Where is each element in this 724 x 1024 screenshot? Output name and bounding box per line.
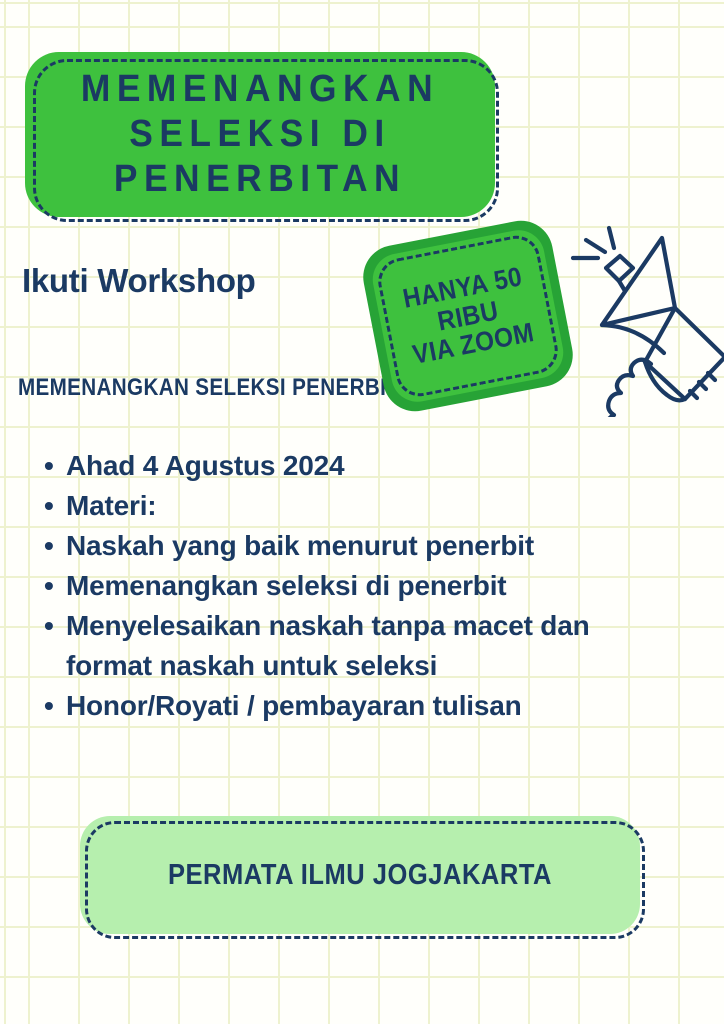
megaphone-mouthpiece <box>606 256 633 281</box>
workshop-name: MEMENANGKAN SELEKSI PENERBITAN <box>18 374 428 402</box>
sound-ray-3 <box>609 228 614 248</box>
title-line-3: PENERBITAN <box>114 157 406 202</box>
megaphone-grip-line-1 <box>708 373 715 380</box>
megaphone-cone <box>602 238 675 325</box>
title-banner: MEMENANGKAN SELEKSI DI PENERBITAN <box>25 52 495 217</box>
subheading: Ikuti Workshop <box>22 262 256 300</box>
title-line-1: MEMENANGKAN <box>81 67 439 112</box>
bullet-icon: • <box>44 606 66 646</box>
list-item: • Menyelesaikan naskah tanpa macet dan f… <box>44 606 644 686</box>
list-item-label: Honor/Royati / pembayaran tulisan <box>66 686 644 726</box>
list-item: • Naskah yang baik menurut penerbit <box>44 526 644 566</box>
list-item: • Ahad 4 Agustus 2024 <box>44 446 644 486</box>
list-item-label: Memenangkan seleksi di penerbit <box>66 566 644 606</box>
list-item: • Materi: <box>44 486 644 526</box>
title-line-2: SELEKSI DI <box>129 112 390 157</box>
megaphone-grip-line-3 <box>690 391 697 398</box>
title-banner-text: MEMENANGKAN SELEKSI DI PENERBITAN <box>41 52 478 217</box>
price-badge-text: HANYA 50 RIBU VIA ZOOM <box>367 217 569 415</box>
bullet-icon: • <box>44 566 66 606</box>
list-item-label: Menyelesaikan naskah tanpa macet dan for… <box>66 606 644 686</box>
poster-canvas: MEMENANGKAN SELEKSI DI PENERBITAN Ikuti … <box>0 0 724 1024</box>
detail-list: • Ahad 4 Agustus 2024 • Materi: • Naskah… <box>44 446 644 726</box>
list-item: • Honor/Royati / pembayaran tulisan <box>44 686 644 726</box>
bullet-icon: • <box>44 486 66 526</box>
bullet-icon: • <box>44 686 66 726</box>
list-item-label: Materi: <box>66 486 644 526</box>
megaphone-grip-line-2 <box>699 382 706 389</box>
price-badge: HANYA 50 RIBU VIA ZOOM <box>358 215 579 417</box>
organizer-name: PERMATA ILMU JOGJAKARTA <box>114 816 607 934</box>
hand-fingers <box>605 360 651 417</box>
bullet-icon: • <box>44 526 66 566</box>
list-item-label: Ahad 4 Agustus 2024 <box>66 446 644 486</box>
sound-ray-2 <box>586 240 605 252</box>
megaphone-icon <box>565 222 724 417</box>
bullet-icon: • <box>44 446 66 486</box>
list-item-label: Naskah yang baik menurut penerbit <box>66 526 644 566</box>
organizer-banner: PERMATA ILMU JOGJAKARTA <box>80 816 640 934</box>
list-item: • Memenangkan seleksi di penerbit <box>44 566 644 606</box>
